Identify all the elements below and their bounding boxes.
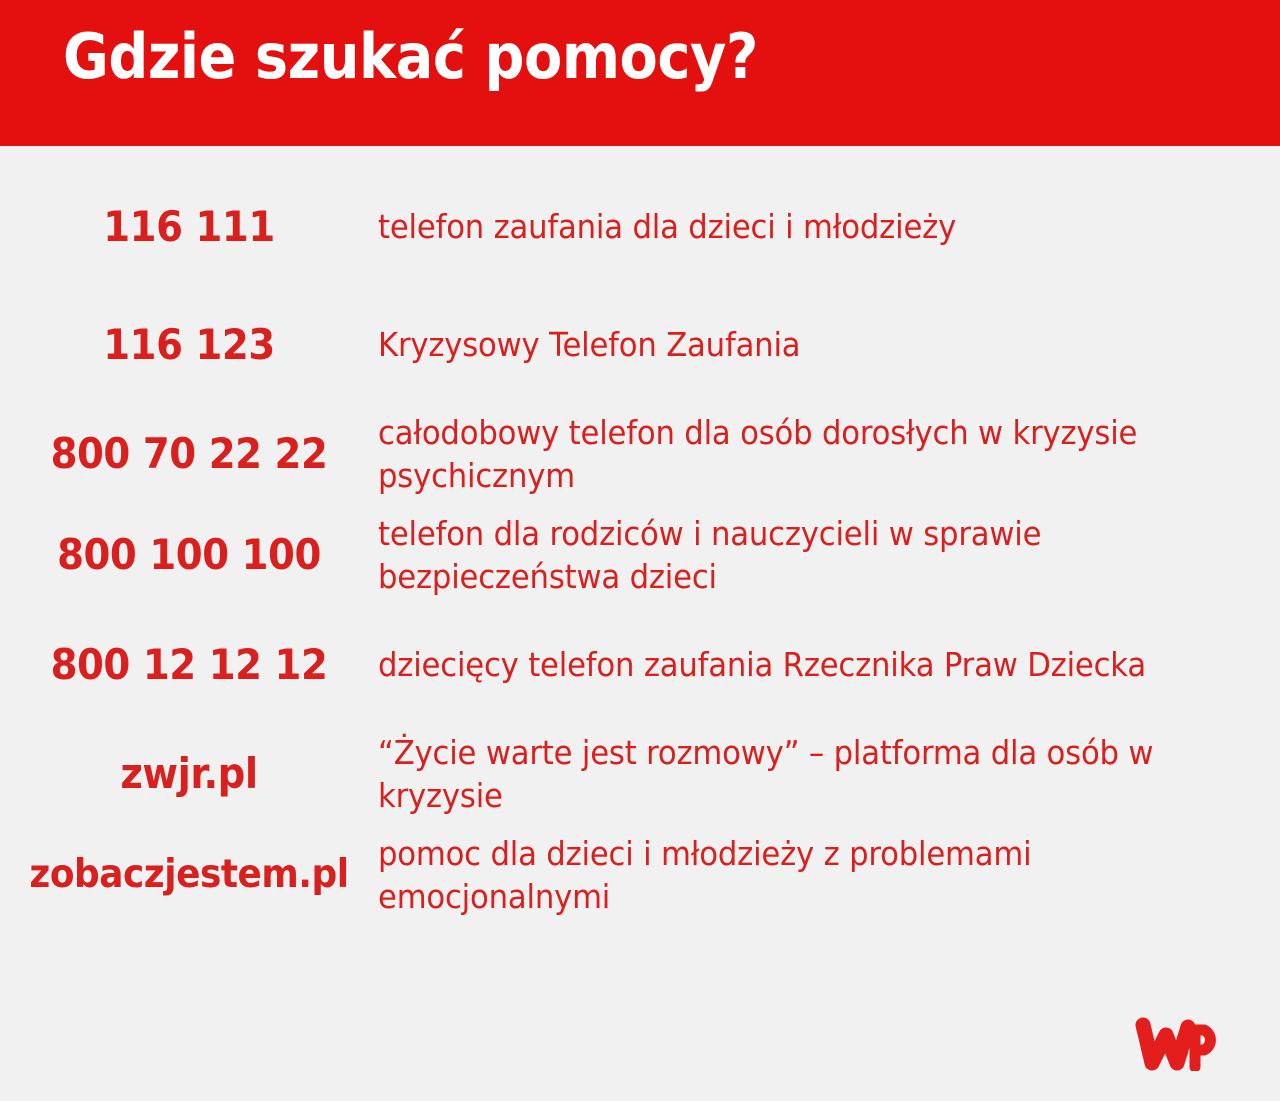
infographic-root: Gdzie szukać pomocy? 116 111 telefon zau… [0,0,1280,1101]
contact-key[interactable]: 116 123 [15,322,363,368]
contact-key[interactable]: 800 100 100 [15,532,363,578]
wp-logo-icon [1132,1017,1228,1071]
header-band: Gdzie szukać pomocy? [0,0,1280,146]
contact-key[interactable]: zwjr.pl [15,751,363,797]
contact-description: całodobowy telefon dla osób dorosłych w … [378,412,1196,498]
contact-list: 116 111 telefon zaufania dla dzieci i mł… [0,146,1280,926]
contact-description: “Życie warte jest rozmowy” – platforma d… [378,732,1196,818]
contact-description: Kryzysowy Telefon Zaufania [378,324,1196,367]
contact-row: 800 70 22 22 całodobowy telefon dla osób… [0,404,1280,505]
contact-key[interactable]: 800 12 12 12 [15,642,363,688]
contact-row: 800 100 100 telefon dla rodziców i naucz… [0,505,1280,606]
contact-description: pomoc dla dzieci i młodzieży z problemam… [378,833,1196,919]
contact-row: 116 111 telefon zaufania dla dzieci i mł… [0,168,1280,286]
contact-key[interactable]: zobaczjestem.pl [15,854,363,897]
contact-key[interactable]: 800 70 22 22 [15,431,363,477]
contact-row: 800 12 12 12 dziecięcy telefon zaufania … [0,606,1280,724]
contact-row: 116 123 Kryzysowy Telefon Zaufania [0,286,1280,404]
contact-description: dziecięcy telefon zaufania Rzecznika Pra… [378,644,1196,687]
contact-description: telefon zaufania dla dzieci i młodzieży [378,206,1196,249]
contact-description: telefon dla rodziców i nauczycieli w spr… [378,513,1196,599]
contact-row: zwjr.pl “Życie warte jest rozmowy” – pla… [0,724,1280,825]
page-title: Gdzie szukać pomocy? [63,21,758,92]
contact-row: zobaczjestem.pl pomoc dla dzieci i młodz… [0,825,1280,926]
contact-key[interactable]: 116 111 [15,204,363,250]
